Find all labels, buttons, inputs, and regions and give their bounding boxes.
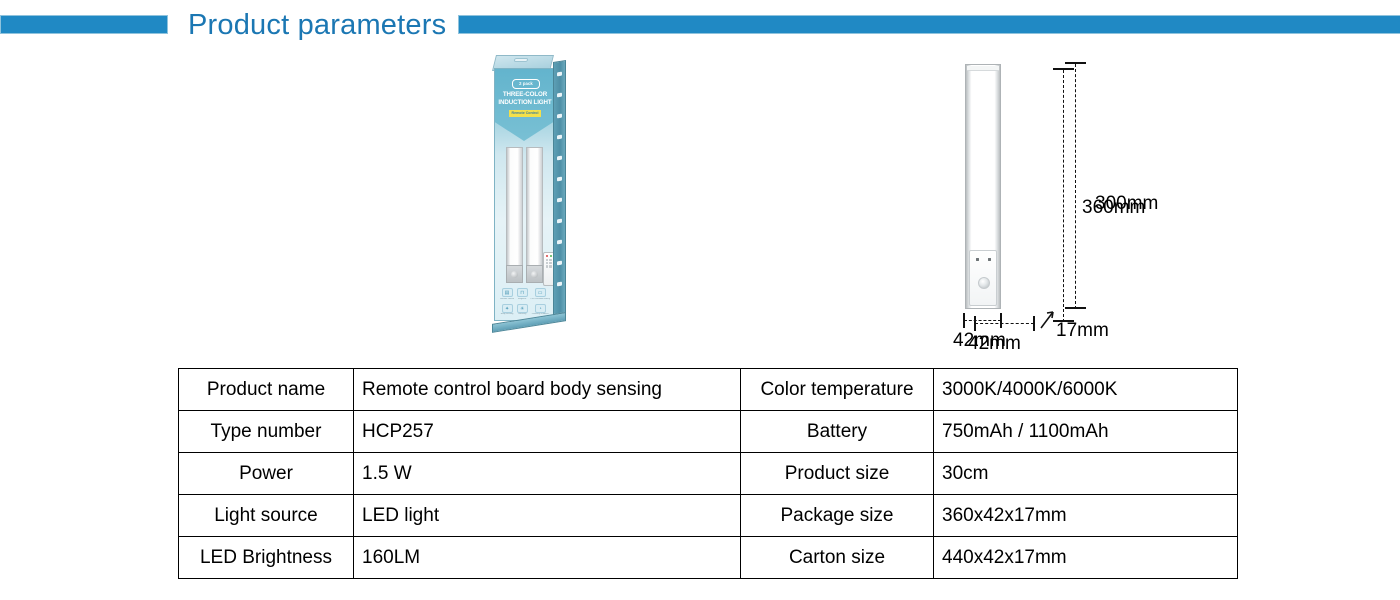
page-header: Product parameters [0,0,1400,50]
spec-value: Remote control board body sensing [354,369,741,411]
header-accent-bar-left [0,15,168,34]
page-title: Product parameters [188,6,458,44]
product-height-label: 300mm [1095,193,1158,215]
spec-value: 1.5 W [354,453,741,495]
remote-key [546,262,549,264]
package-spine-chip [557,261,562,266]
dimming-icon: ☀ [517,304,528,313]
table-row: Power1.5 WProduct size30cm [179,453,1238,495]
specifications-table: Product nameRemote control board body se… [178,368,1238,579]
package-hang-tab [514,58,529,62]
table-row: Light sourceLED lightPackage size360x42x… [179,495,1238,537]
package-lightbar-left-sensor-icon [511,271,518,278]
package-feature-caption: Body sensing [500,313,514,316]
remote-mode-button-icon [550,255,552,257]
product-height-dimension-line [1075,64,1076,309]
package-feature-caption: Dimming [516,313,529,316]
table-row: LED Brightness160LMCarton size440x42x17m… [179,537,1238,579]
timer-icon-glyph: ◔ [536,305,545,312]
package-figure: 2 pack THREE-COLOR INDUCTION LIGHT Remot… [478,50,678,350]
package-spine-chip [557,198,562,203]
package-highlight-badge: Remote Control [509,110,541,117]
remote-key [546,259,549,261]
spec-value: HCP257 [354,411,741,453]
package-feature-caption: Remote control [500,298,514,301]
package-title-line2: INDUCTION LIGHT [495,99,554,107]
package-feature-2: ▭750/1100mAh battery [530,288,550,302]
spec-label: Battery [741,411,934,453]
package-lightbar-left [506,147,523,267]
timer-icon: ◔ [535,304,546,313]
package-spine-chip [557,135,562,140]
package-spine-chip [557,177,562,182]
package-feature-caption: Magnetic [516,298,529,301]
product-figure: 300mm 42mm [930,50,1170,350]
spec-value: 440x42x17mm [934,537,1238,579]
table-row: Type numberHCP257Battery750mAh / 1100mAh [179,411,1238,453]
package-title-line1: THREE-COLOR [495,91,554,99]
table-row: Product nameRemote control board body se… [179,369,1238,411]
light-bar-sensor-module [969,250,997,306]
package-feature-caption: 750/1100mAh battery [530,298,550,301]
spec-value: 360x42x17mm [934,495,1238,537]
product-width-dimension-line [964,320,1001,321]
remote-control-icon: ▤ [502,288,513,297]
motion-sensor-icon [978,277,990,289]
package-feature-1: ⊓Magnetic [516,288,529,302]
indicator-led-left-icon [976,258,979,261]
product-width-label: 42mm [953,330,1006,352]
product-height-cap-top [1065,62,1086,64]
remote-key [549,265,552,267]
product-width-cap-right [1000,313,1002,328]
package-lightbar-right [526,147,543,267]
remote-control-icon-glyph: ▤ [503,289,512,296]
spec-label: Light source [179,495,354,537]
spec-value: 30cm [934,453,1238,495]
spec-value: LED light [354,495,741,537]
package-feature-icon-grid: ▤Remote control⊓Magnetic▭750/1100mAh bat… [500,288,550,318]
header-accent-bar-right [458,15,1400,34]
package-feature-4: ☀Dimming [516,304,529,318]
remote-key [546,265,549,267]
package-spine-chip [557,219,562,224]
package-spine-chip [557,93,562,98]
package-spine-chip [557,282,562,287]
package-pack-count-badge: 2 pack [512,79,540,89]
package-spine-text: THREE-COLOR INDUCTION LIGHT · 2 PACK · R… [553,149,555,301]
motion-sensor-icon-glyph: ✦ [503,305,512,312]
magnet-icon: ⊓ [517,288,528,297]
package-spine-chip [557,240,562,245]
package-front-face: 2 pack THREE-COLOR INDUCTION LIGHT Remot… [494,68,554,321]
light-bar-top-cap [967,66,999,71]
indicator-led-right-icon [988,258,991,261]
remote-key [549,259,552,261]
dimming-icon-glyph: ☀ [518,305,527,312]
spec-label: Carton size [741,537,934,579]
magnet-icon-glyph: ⊓ [518,289,527,296]
spec-label: Color temperature [741,369,934,411]
package-spine-chip [557,156,562,161]
package-spine-chip [557,114,562,119]
motion-sensor-icon: ✦ [502,304,513,313]
remote-key [549,262,552,264]
spec-value: 3000K/4000K/6000K [934,369,1238,411]
package-spine-chip [557,72,562,77]
spec-label: Package size [741,495,934,537]
spec-value: 160LM [354,537,741,579]
product-figures: 2 pack THREE-COLOR INDUCTION LIGHT Remot… [0,50,1400,360]
spec-value: 750mAh / 1100mAh [934,411,1238,453]
package-spine: THREE-COLOR INDUCTION LIGHT · 2 PACK · R… [553,60,566,315]
battery-icon: ▭ [535,288,546,297]
spec-label: Product size [741,453,934,495]
spec-label: Power [179,453,354,495]
battery-icon-glyph: ▭ [536,289,545,296]
product-height-cap-bottom [1065,307,1086,309]
package-lightbar-right-sensor-icon [531,271,538,278]
package-feature-3: ✦Body sensing [500,304,514,318]
product-width-cap-left [963,313,965,328]
spec-label: Type number [179,411,354,453]
remote-power-button-icon [546,255,548,257]
spec-label: Product name [179,369,354,411]
spec-label: LED Brightness [179,537,354,579]
package-feature-0: ▤Remote control [500,288,514,302]
